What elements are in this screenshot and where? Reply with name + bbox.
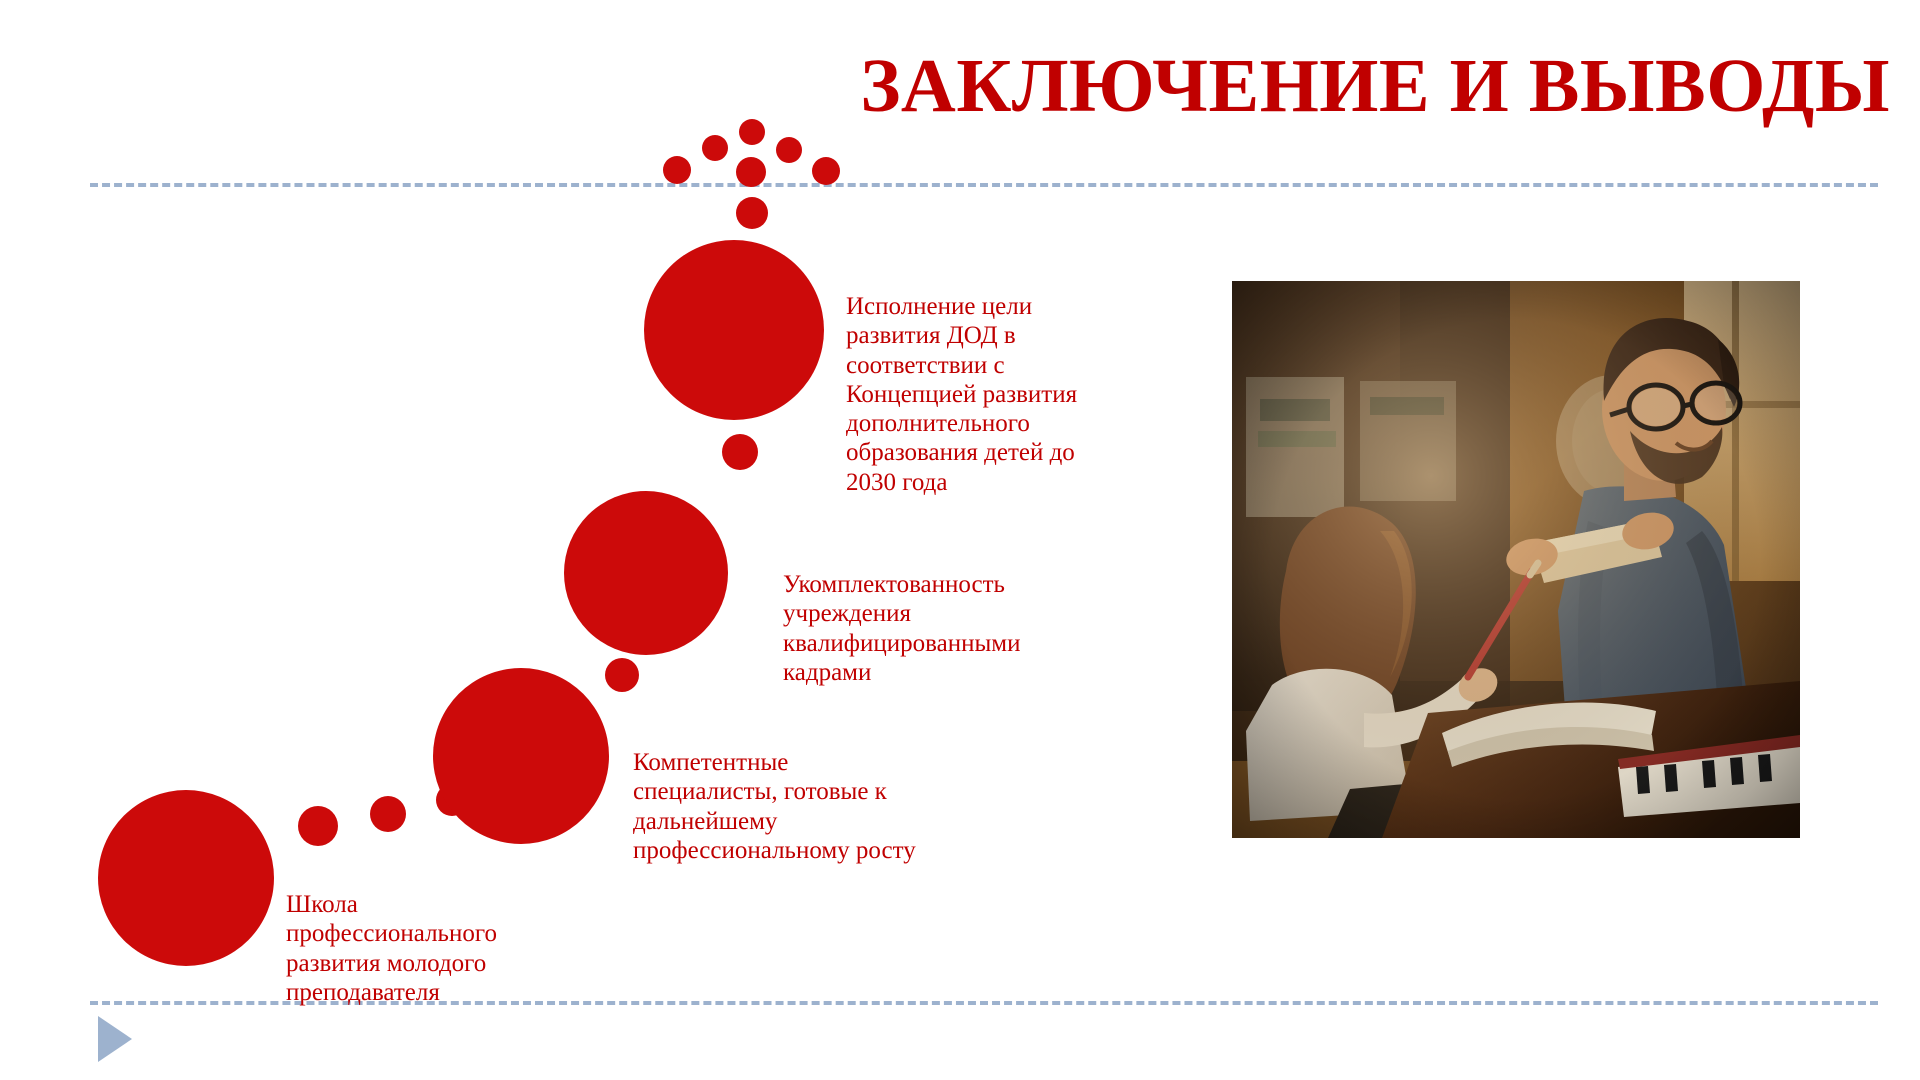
trail-dot-link-2 bbox=[605, 658, 639, 692]
trail-dot-top-cluster-1 bbox=[739, 119, 765, 145]
top-divider bbox=[90, 183, 1878, 187]
trail-dot-top-cluster-4 bbox=[663, 156, 691, 184]
classroom-music-lesson-photo bbox=[1232, 281, 1800, 838]
trail-dot-top-cluster-6 bbox=[812, 157, 840, 185]
callout-text-2: Укомплектованность учреждения квалифицир… bbox=[783, 570, 1055, 687]
callout-text-1: Исполнение цели развития ДОД в соответст… bbox=[846, 292, 1114, 497]
play-triangle-icon bbox=[98, 1016, 132, 1062]
trail-dot-link-4 bbox=[370, 796, 406, 832]
trail-dot-link-1 bbox=[722, 434, 758, 470]
trail-dot-top-cluster-3 bbox=[776, 137, 802, 163]
trail-dot-top-cluster-2 bbox=[702, 135, 728, 161]
page-title: ЗАКЛЮЧЕНИЕ И ВЫВОДЫ bbox=[820, 48, 1890, 124]
callout-text-3: Компетентные специалисты, готовые к даль… bbox=[633, 748, 923, 865]
callout-text-4: Школа профессионального развития молодог… bbox=[286, 890, 526, 1007]
trail-dot-top-cluster-7 bbox=[736, 197, 768, 229]
stage-circle-2 bbox=[564, 491, 728, 655]
trail-dot-link-3 bbox=[298, 806, 338, 846]
stage-circle-3 bbox=[433, 668, 609, 844]
stage-circle-1 bbox=[644, 240, 824, 420]
presentation-slide: ЗАКЛЮЧЕНИЕ И ВЫВОДЫ Исполнение цели разв… bbox=[0, 0, 1920, 1080]
stage-circle-4 bbox=[98, 790, 274, 966]
trail-dot-top-cluster-5 bbox=[736, 157, 766, 187]
